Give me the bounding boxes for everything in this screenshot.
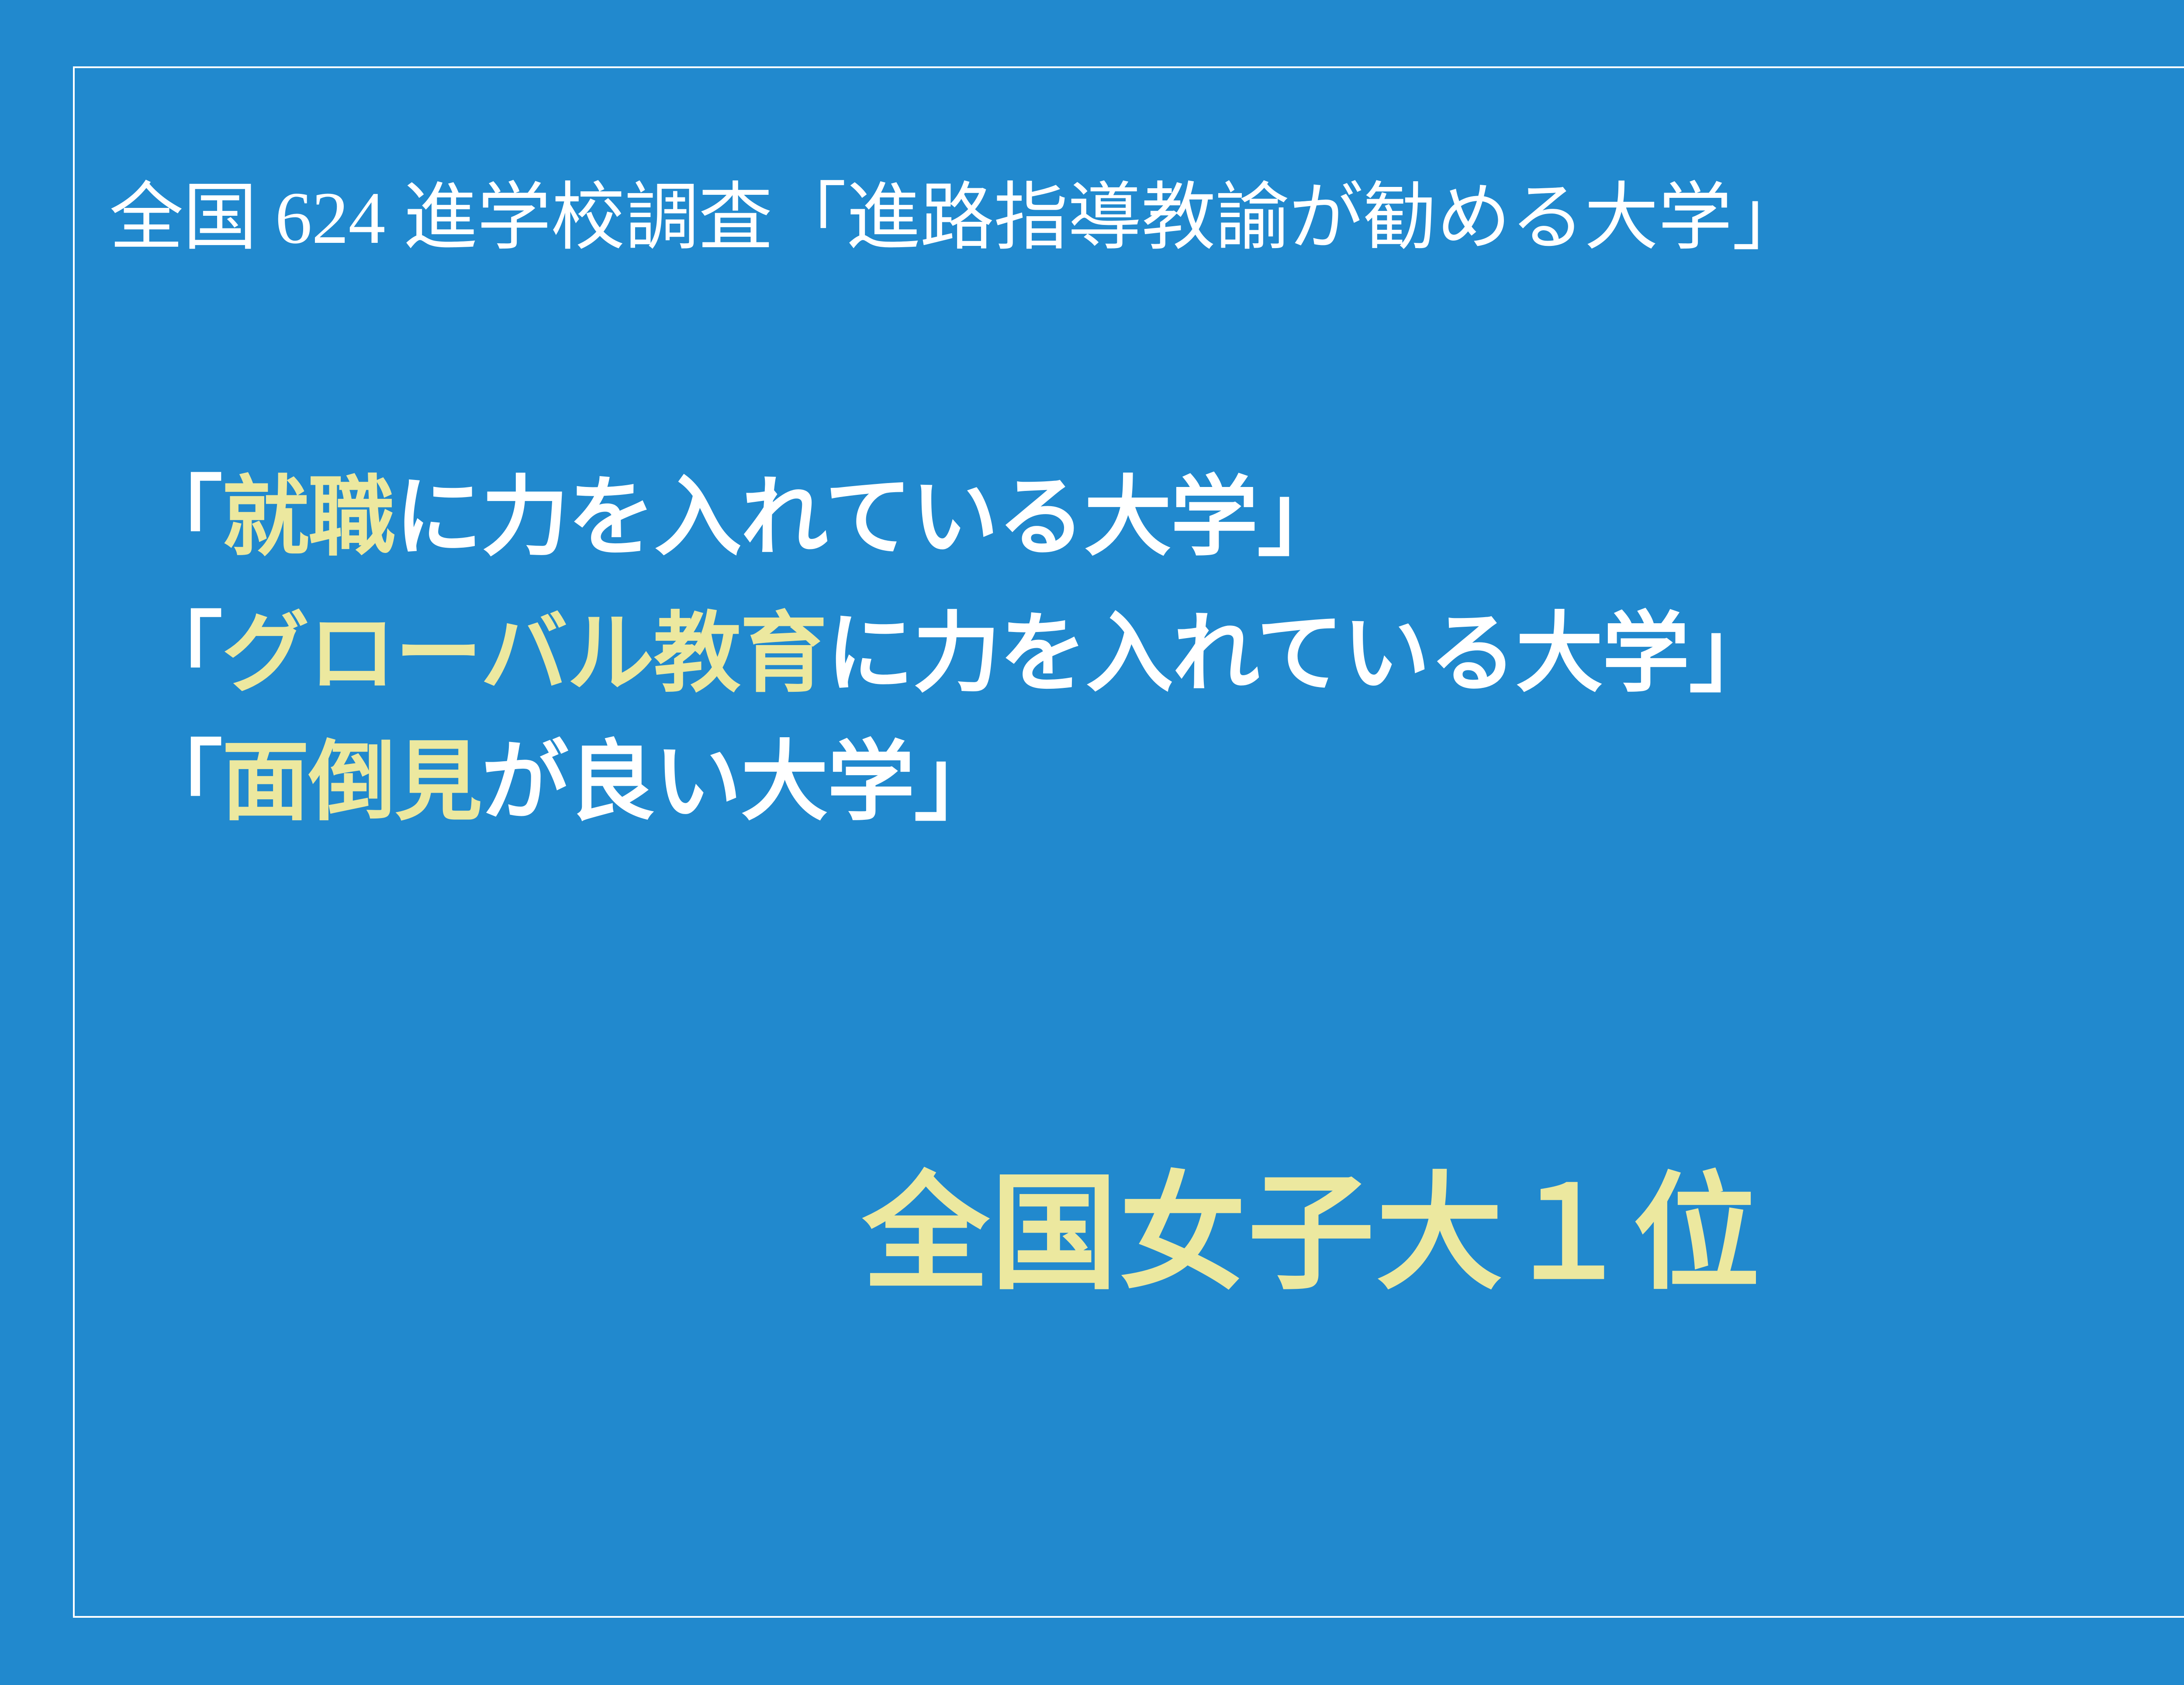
open-bracket: 「 xyxy=(135,603,222,704)
category-highlight-employment: 就職 xyxy=(222,466,395,568)
slide-canvas: 全国 624 進学校調査「進路指導教諭が勧める大学」 （大学通信） 「就職に力を… xyxy=(0,0,2184,1685)
source-line: （大学通信） xyxy=(109,269,2184,307)
category-rest-employment: に力を入れている大学 xyxy=(395,466,1257,568)
open-bracket: 「 xyxy=(135,731,222,833)
category-item-student-care: 「面倒見が良い大学」 xyxy=(135,739,2184,826)
category-item-employment: 「就職に力を入れている大学」 xyxy=(135,474,2184,561)
open-bracket: 「 xyxy=(135,466,222,568)
category-item-global-education: 「グローバル教育に力を入れている大学」 xyxy=(135,610,2184,697)
category-list: 「就職に力を入れている大学」 「グローバル教育に力を入れている大学」 「面倒見が… xyxy=(135,474,2184,826)
headline-rank-statement: 全国女子大１位 xyxy=(863,1171,1762,1297)
source-credit: （大学通信） xyxy=(2169,267,2184,309)
close-bracket: 」 xyxy=(914,731,1000,833)
close-bracket: 」 xyxy=(1257,466,1344,568)
close-bracket: 」 xyxy=(1689,603,1775,704)
survey-title: 全国 624 進学校調査「進路指導教諭が勧める大学」 xyxy=(109,178,2184,259)
category-highlight-global-education: グローバル教育 xyxy=(222,603,826,704)
category-rest-student-care: が良い大学 xyxy=(481,731,914,833)
category-highlight-student-care: 面倒見 xyxy=(222,731,481,833)
category-rest-global-education: に力を入れている大学 xyxy=(826,603,1689,704)
headline-wrap: 全国女子大１位 xyxy=(0,1171,2184,1297)
title-block: 全国 624 進学校調査「進路指導教諭が勧める大学」 （大学通信） xyxy=(109,178,2184,307)
